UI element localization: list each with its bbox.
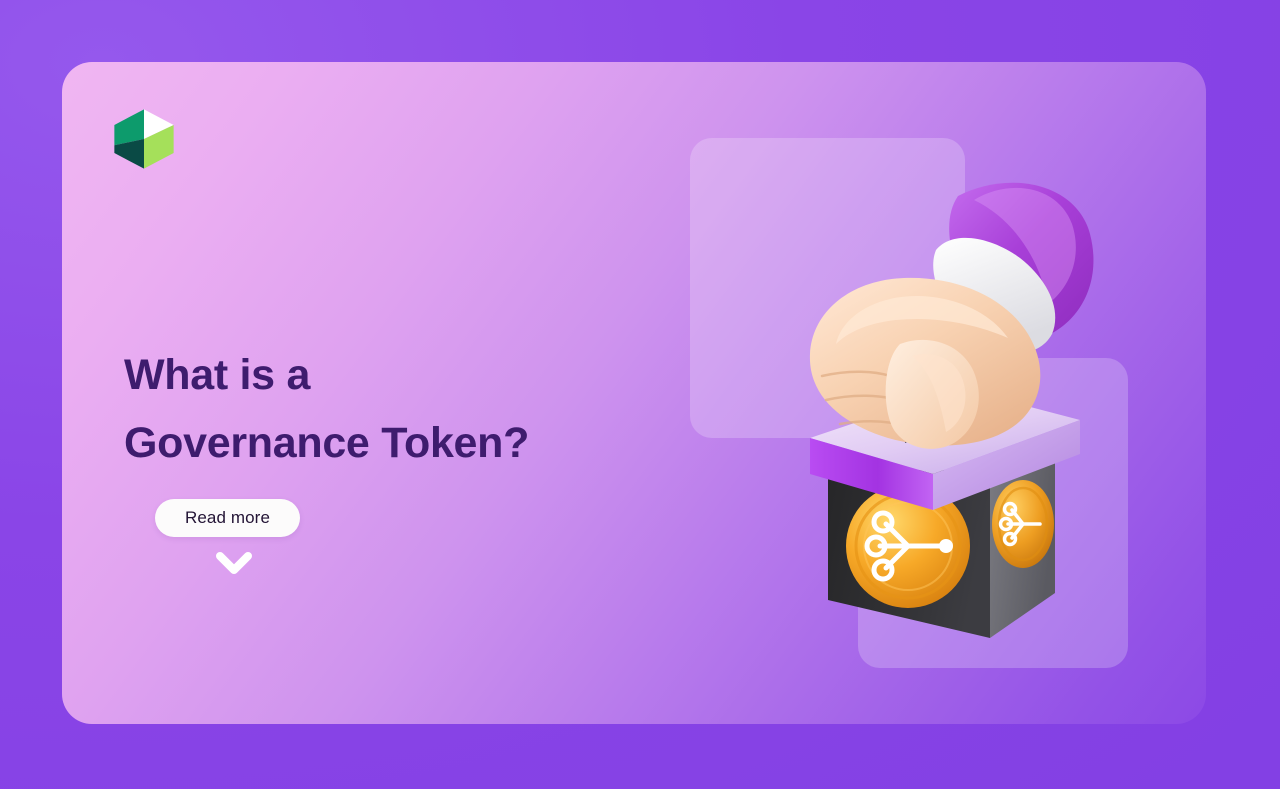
- hand-3d: [810, 183, 1094, 449]
- read-more-button[interactable]: Read more: [155, 499, 300, 537]
- chevron-down-icon: [213, 548, 255, 578]
- scroll-down-chevron[interactable]: [213, 548, 255, 578]
- cube-logo-icon: [105, 100, 183, 178]
- hero-card: What is a Governance Token? Read more: [62, 62, 1206, 724]
- brand-logo[interactable]: [105, 100, 183, 178]
- page-title-line-1: What is a: [124, 342, 744, 410]
- page-title-line-2: Governance Token?: [124, 410, 744, 478]
- page-title: What is a Governance Token?: [124, 342, 744, 478]
- governance-coin-side: [992, 480, 1054, 568]
- governance-illustration: [690, 138, 1200, 718]
